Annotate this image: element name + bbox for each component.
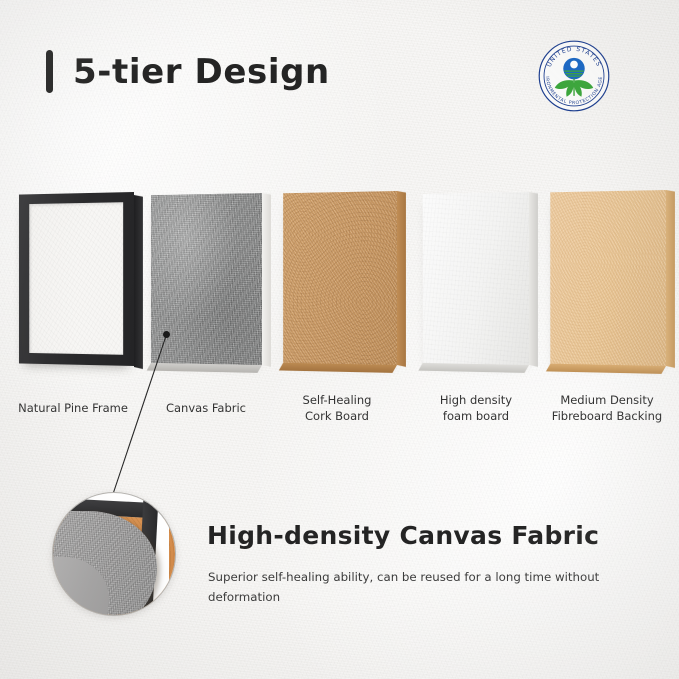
layer-panel-cork-board[interactable] [283, 191, 397, 365]
canvas-fabric-bottom-edge [147, 363, 262, 373]
cork-board-side-edge [397, 191, 406, 367]
magnified-fabric-curl [52, 557, 109, 616]
frame-inner-opening [29, 202, 123, 355]
layer-panel-fibreboard-backing[interactable] [550, 190, 666, 366]
foam-board-side-edge [529, 192, 538, 367]
frame-side-edge [134, 195, 143, 369]
epa-seal-icon: UNITED STATES ENVIRONMENTAL PROTECTION A… [537, 39, 611, 113]
foam-board-face [423, 192, 529, 365]
layer-label-cork-board: Self-Healing Cork Board [274, 392, 400, 424]
layer-label-foam-board: High density foam board [415, 392, 537, 424]
cork-board-bottom-edge [279, 363, 397, 373]
infographic-page: 5-tier Design UNITED STATES ENVIRONMENTA… [0, 0, 679, 679]
detail-heading: High-density Canvas Fabric [207, 521, 599, 550]
layer-panel-foam-board[interactable] [423, 192, 529, 365]
epa-sun [570, 61, 578, 69]
title-accent-bar [46, 50, 53, 93]
layer-panel-natural-pine-frame[interactable] [19, 192, 134, 366]
callout-anchor-dot [163, 331, 170, 338]
foam-board-bottom-edge [418, 363, 529, 373]
layer-label-canvas-fabric: Canvas Fabric [148, 400, 264, 416]
page-title: 5-tier Design [73, 52, 330, 92]
detail-body-text: Superior self-healing ability, can be re… [208, 567, 654, 607]
page-title-row: 5-tier Design [46, 50, 330, 93]
fibreboard-face [550, 190, 666, 366]
layer-label-natural-pine-frame: Natural Pine Frame [6, 400, 140, 416]
canvas-fabric-face [151, 193, 262, 365]
fibreboard-side-edge [666, 190, 675, 368]
fibreboard-bottom-edge [546, 364, 666, 374]
magnified-detail-circle [52, 492, 176, 616]
layer-label-fibreboard-backing: Medium Density Fibreboard Backing [540, 392, 674, 424]
layer-panel-canvas-fabric[interactable] [151, 193, 262, 365]
canvas-fabric-side-edge [262, 193, 271, 367]
cork-board-face [283, 191, 397, 365]
